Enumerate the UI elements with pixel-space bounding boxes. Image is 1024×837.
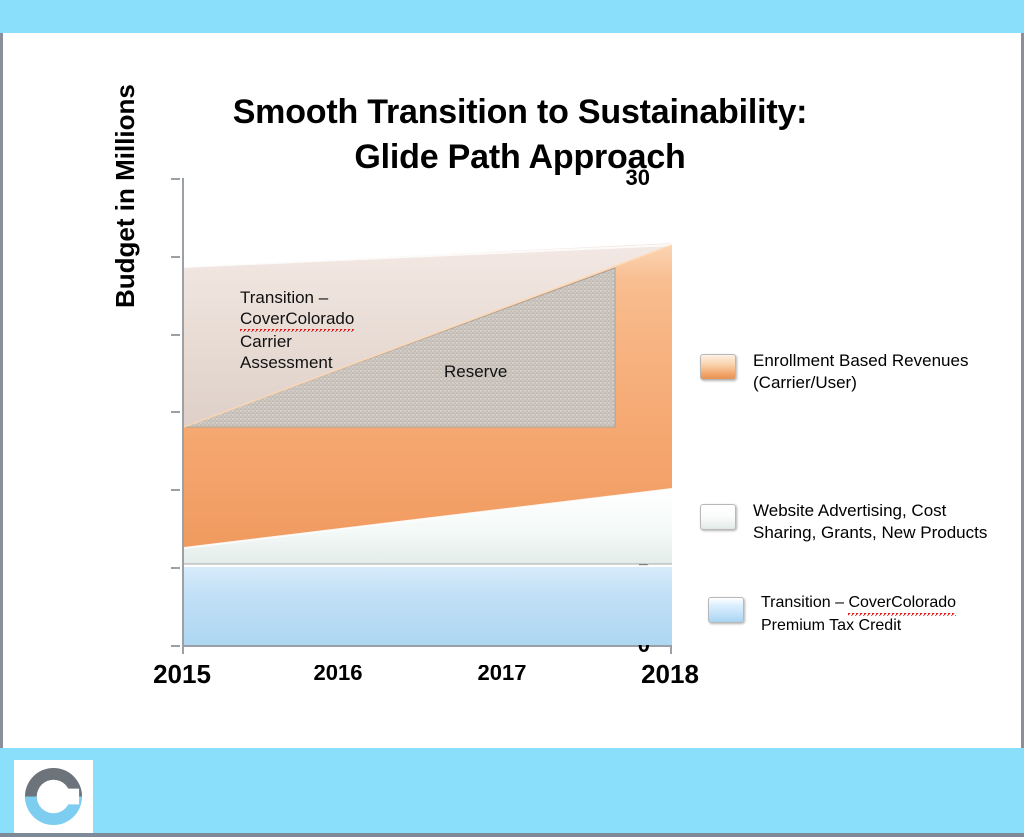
y-tick-mark-20 — [171, 334, 180, 336]
legend-swatch-blue-icon — [708, 597, 744, 623]
plot-area: Budget in Millions 30 25 20 15 10 5 0 — [182, 178, 670, 645]
misspelled-word-covercolorado: CoverColorado — [240, 309, 354, 333]
y-tick-mark-25 — [171, 256, 180, 258]
area-chart: Budget in Millions 30 25 20 15 10 5 0 — [0, 0, 1024, 760]
legend-label-line-2: (Carrier/User) — [753, 372, 968, 394]
legend-label-prefix: Transition – — [761, 594, 848, 611]
series-area-premium-tax-credit — [184, 566, 672, 645]
slide-bottom-accent-band — [0, 748, 1024, 833]
x-tick-label-2015: 2015 — [153, 659, 211, 690]
logo-container — [14, 760, 93, 833]
x-tick-label-2017: 2017 — [478, 665, 527, 683]
legend-item-premium-tax-credit[interactable]: Transition – CoverColorado Premium Tax C… — [708, 593, 956, 637]
cover-colorado-c-logo-icon — [22, 765, 85, 828]
annotation-line-2: CoverColorado — [240, 309, 354, 333]
y-tick-mark-30 — [171, 178, 180, 180]
series-areas — [182, 178, 672, 645]
y-tick-mark-5 — [171, 567, 180, 569]
legend-swatch-orange-icon — [700, 354, 736, 380]
annotation-carrier-assessment: Transition – CoverColorado Carrier Asses… — [240, 288, 354, 374]
legend-swatch-white-icon — [700, 504, 736, 530]
legend-label-line-1: Website Advertising, Cost — [753, 500, 987, 522]
slide-bottom-border — [0, 833, 1024, 837]
y-tick-mark-10 — [171, 489, 180, 491]
annotation-line-3: Carrier — [240, 332, 354, 353]
x-tick-label-2018: 2018 — [641, 659, 699, 690]
legend-item-enrollment-revenues[interactable]: Enrollment Based Revenues (Carrier/User) — [700, 350, 968, 394]
legend-label-enrollment-revenues: Enrollment Based Revenues (Carrier/User) — [753, 350, 968, 394]
legend-label-line-1: Transition – CoverColorado — [761, 593, 956, 616]
legend-item-website-advertising[interactable]: Website Advertising, Cost Sharing, Grant… — [700, 500, 987, 544]
legend-label-website-advertising: Website Advertising, Cost Sharing, Grant… — [753, 500, 987, 544]
legend-label-line-2: Premium Tax Credit — [761, 616, 956, 636]
y-tick-mark-15 — [171, 411, 180, 413]
legend-label-line-2: Sharing, Grants, New Products — [753, 522, 987, 544]
misspelled-word-covercolorado: CoverColorado — [848, 593, 956, 616]
annotation-reserve: Reserve — [444, 362, 507, 383]
x-tick-label-2016: 2016 — [314, 665, 363, 683]
y-axis-title: Budget in Millions — [110, 8, 141, 308]
legend-label-premium-tax-credit: Transition – CoverColorado Premium Tax C… — [761, 593, 956, 637]
area-series-svg — [182, 178, 674, 648]
slide-canvas: Smooth Transition to Sustainability: Gli… — [0, 0, 1024, 837]
y-tick-mark-0 — [171, 645, 180, 647]
annotation-line-4: Assessment — [240, 353, 354, 374]
annotation-line-1: Transition – — [240, 288, 354, 309]
legend-label-line-1: Enrollment Based Revenues — [753, 350, 968, 372]
